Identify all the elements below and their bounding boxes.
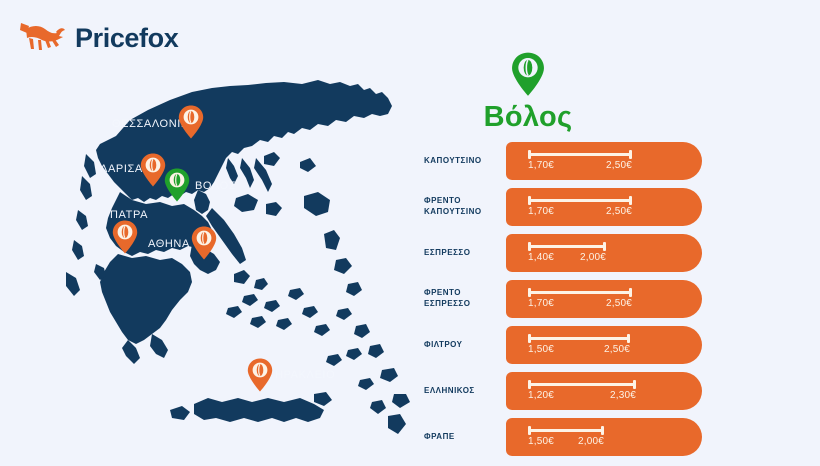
greece-map-shape	[52, 58, 424, 458]
price-range-line	[528, 150, 632, 159]
range-cap-min-icon	[528, 150, 531, 159]
price-min: 1,40€	[528, 252, 554, 263]
price-max: 2,30€	[610, 390, 636, 401]
price-row-label: ΚΑΠΟΥΤΣΙΝΟ	[424, 142, 496, 180]
price-range-values: 1,70€ 2,50€	[528, 206, 632, 220]
coffee-bean-pin-icon	[112, 220, 138, 254]
price-min: 1,70€	[528, 206, 554, 217]
price-row-label: ΦΡΑΠΕ	[424, 418, 496, 456]
map-pin-athina[interactable]	[191, 226, 217, 260]
price-rows-list: ΚΑΠΟΥΤΣΙΝΟ 1,70€ 2,50€	[424, 142, 820, 464]
price-row-bar: 1,70€ 2,50€	[506, 142, 702, 180]
price-range-line	[528, 196, 632, 205]
map-pin-larisa[interactable]	[140, 153, 166, 187]
map-pin-thessaloniki[interactable]	[178, 105, 204, 139]
price-max: 2,00€	[580, 252, 606, 263]
price-row-bar: 1,70€ 2,50€	[506, 280, 702, 318]
price-range-values: 1,70€ 2,50€	[528, 160, 632, 174]
map-label-irakleio: ΗΡΑΚΛΕΙΟ	[275, 369, 335, 381]
map-pin-patra[interactable]	[112, 220, 138, 254]
price-min: 1,20€	[528, 390, 554, 401]
price-row[interactable]: ΦΙΛΤΡΟΥ 1,50€ 2,50€	[424, 326, 820, 364]
price-range: 1,40€ 2,00€	[528, 242, 606, 266]
range-line-segment	[528, 337, 630, 340]
price-row-label-line1: ΦΙΛΤΡΟΥ	[424, 340, 463, 351]
price-range: 1,70€ 2,50€	[528, 150, 632, 174]
price-range: 1,50€ 2,50€	[528, 334, 630, 358]
selected-city-name: Βόλος	[424, 103, 632, 132]
price-row-label: ΦΡΕΝΤΟ ΕΣΠΡΕΣΣΟ	[424, 280, 496, 318]
price-range-values: 1,50€ 2,50€	[528, 344, 630, 358]
price-range-line	[528, 288, 632, 297]
price-row-label: ΕΛΛΗΝΙΚΟΣ	[424, 372, 496, 410]
price-range-values: 1,40€ 2,00€	[528, 252, 606, 266]
range-line-segment	[528, 291, 632, 294]
coffee-bean-pin-icon	[140, 153, 166, 187]
price-row-label: ΦΙΛΤΡΟΥ	[424, 326, 496, 364]
range-cap-min-icon	[528, 196, 531, 205]
map-pin-irakleio[interactable]	[247, 358, 273, 392]
selected-city-header: Βόλος	[424, 52, 632, 132]
price-row-label-line1: ΚΑΠΟΥΤΣΙΝΟ	[424, 156, 482, 167]
coffee-bean-pin-icon	[247, 358, 273, 392]
price-max: 2,00€	[578, 436, 604, 447]
coffee-bean-pin-icon	[511, 52, 545, 96]
price-range-line	[528, 426, 604, 435]
range-line-segment	[528, 199, 632, 202]
price-row[interactable]: ΦΡΕΝΤΟ ΚΑΠΟΥΤΣΙΝΟ 1,70€ 2,50€	[424, 188, 820, 226]
price-row-bar: 1,40€ 2,00€	[506, 234, 702, 272]
price-row-label-line1: ΕΛΛΗΝΙΚΟΣ	[424, 386, 475, 397]
price-row-bar: 1,70€ 2,50€	[506, 188, 702, 226]
price-row-label: ΦΡΕΝΤΟ ΚΑΠΟΥΤΣΙΝΟ	[424, 188, 496, 226]
range-cap-max-icon	[633, 380, 636, 389]
price-range-values: 1,70€ 2,50€	[528, 298, 632, 312]
price-min: 1,70€	[528, 298, 554, 309]
price-row-bar: 1,20€ 2,30€	[506, 372, 702, 410]
range-line-segment	[528, 245, 606, 248]
price-range: 1,70€ 2,50€	[528, 288, 632, 312]
price-min: 1,70€	[528, 160, 554, 171]
price-row-label-line2: ΕΣΠΡΕΣΣΟ	[424, 299, 470, 310]
range-line-segment	[528, 429, 604, 432]
price-max: 2,50€	[606, 298, 632, 309]
coffee-bean-pin-icon	[178, 105, 204, 139]
range-cap-max-icon	[603, 242, 606, 251]
price-range-values: 1,20€ 2,30€	[528, 390, 636, 404]
price-row-label-line1: ΦΡΕΝΤΟ	[424, 288, 461, 299]
price-min: 1,50€	[528, 344, 554, 355]
price-range-line	[528, 334, 630, 343]
range-cap-max-icon	[629, 288, 632, 297]
price-row-label-line2: ΚΑΠΟΥΤΣΙΝΟ	[424, 207, 482, 218]
price-row[interactable]: ΕΛΛΗΝΙΚΟΣ 1,20€ 2,30€	[424, 372, 820, 410]
price-max: 2,50€	[606, 206, 632, 217]
range-cap-max-icon	[629, 150, 632, 159]
price-range-line	[528, 380, 636, 389]
range-cap-max-icon	[601, 426, 604, 435]
range-cap-min-icon	[528, 288, 531, 297]
price-row[interactable]: ΕΣΠΡΕΣΣΟ 1,40€ 2,00€	[424, 234, 820, 272]
greece-map-panel[interactable]: ΘΕΣΣΑΛΟΝΙΚΗ ΛΑΡΙΣΑ ΒΟΛΟΣ ΠΑΤΡΑ ΑΘΗΝΑ ΗΡΑ…	[52, 58, 424, 458]
price-row[interactable]: ΚΑΠΟΥΤΣΙΝΟ 1,70€ 2,50€	[424, 142, 820, 180]
range-cap-max-icon	[627, 334, 630, 343]
price-range: 1,20€ 2,30€	[528, 380, 636, 404]
price-min: 1,50€	[528, 436, 554, 447]
range-cap-max-icon	[629, 196, 632, 205]
price-row-label-line1: ΕΣΠΡΕΣΣΟ	[424, 248, 470, 259]
price-max: 2,50€	[606, 160, 632, 171]
map-label-volos: ΒΟΛΟΣ	[195, 180, 236, 192]
map-label-larisa: ΛΑΡΙΣΑ	[100, 163, 143, 175]
price-range: 1,70€ 2,50€	[528, 196, 632, 220]
range-cap-min-icon	[528, 242, 531, 251]
brand-logo: Pricefox	[18, 18, 178, 58]
price-row-label: ΕΣΠΡΕΣΣΟ	[424, 234, 496, 272]
price-range-values: 1,50€ 2,00€	[528, 436, 604, 450]
price-max: 2,50€	[604, 344, 630, 355]
price-row[interactable]: ΦΡΑΠΕ 1,50€ 2,00€	[424, 418, 820, 456]
range-line-segment	[528, 153, 632, 156]
map-pin-volos[interactable]	[164, 168, 190, 202]
price-row-bar: 1,50€ 2,00€	[506, 418, 702, 456]
range-line-segment	[528, 383, 636, 386]
coffee-bean-pin-icon	[164, 168, 190, 202]
price-row-label-line1: ΦΡΕΝΤΟ	[424, 196, 461, 207]
coffee-bean-pin-icon	[191, 226, 217, 260]
price-panel: Βόλος ΚΑΠΟΥΤΣΙΝΟ 1,70€ 2,50€	[424, 0, 820, 466]
price-row-bar: 1,50€ 2,50€	[506, 326, 702, 364]
brand-wordmark: Pricefox	[75, 25, 178, 52]
price-row[interactable]: ΦΡΕΝΤΟ ΕΣΠΡΕΣΣΟ 1,70€ 2,50€	[424, 280, 820, 318]
price-range: 1,50€ 2,00€	[528, 426, 604, 450]
fox-icon	[18, 18, 66, 58]
range-cap-min-icon	[528, 426, 531, 435]
range-cap-min-icon	[528, 334, 531, 343]
map-label-athina: ΑΘΗΝΑ	[148, 238, 190, 250]
price-row-label-line1: ΦΡΑΠΕ	[424, 432, 455, 443]
range-cap-min-icon	[528, 380, 531, 389]
price-range-line	[528, 242, 606, 251]
